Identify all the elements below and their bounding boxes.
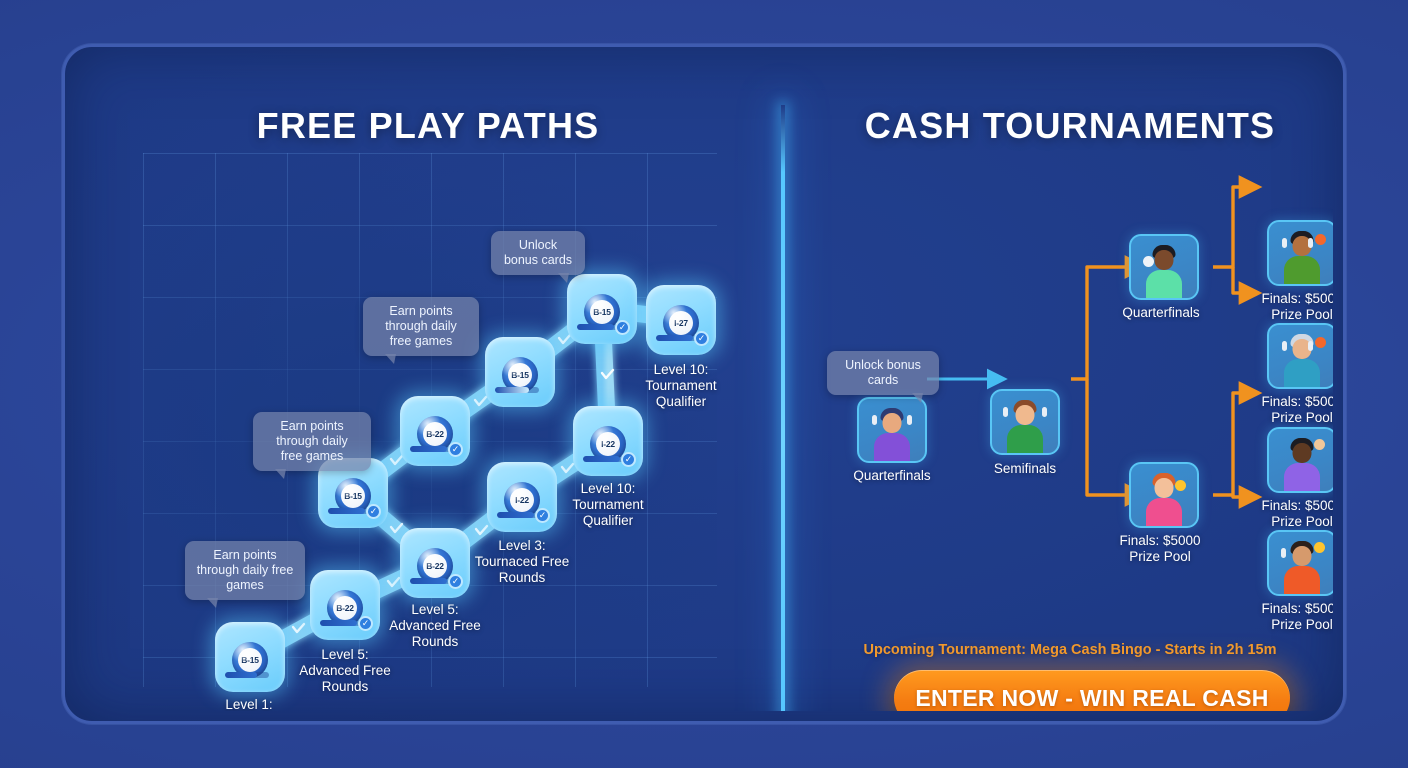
level-node-3[interactable]: B-22 ✓ — [400, 528, 470, 598]
avatar-player-violet — [1269, 429, 1333, 491]
bracket-card-quarterfinals-1[interactable] — [857, 397, 927, 463]
bracket-card-finals-mid[interactable] — [1129, 462, 1199, 528]
content-card: FREE PLAY PATHS — [62, 44, 1346, 724]
level-node-9[interactable]: B-15 ✓ — [567, 274, 637, 344]
tooltip-unlock-bonus-cards-cash: Unlock bonus cards — [827, 351, 939, 395]
level-node-2-label: Level 5:Advanced Free Rounds — [285, 647, 405, 695]
bracket-card-quarterfinals-2[interactable] — [1129, 234, 1199, 300]
tooltip-unlock-bonus-cards: Unlock bonus cards — [491, 231, 585, 275]
bracket-card-finals-3[interactable] — [1267, 427, 1333, 493]
level-node-7[interactable]: B-15 — [485, 337, 555, 407]
panel-divider — [781, 105, 785, 711]
screenshot-root: FREE PLAY PATHS — [0, 0, 1408, 768]
bracket-label-semifinals: Semifinals — [950, 461, 1100, 477]
bracket-card-semifinals[interactable] — [990, 389, 1060, 455]
bracket-label-finals-1: Finals: $5000Prize Pool — [1227, 291, 1333, 323]
ball-code: B-22 — [333, 596, 357, 620]
bracket-label-finals-2: Finals: $5000Prize Pool — [1227, 394, 1333, 426]
ball-code: I-22 — [596, 432, 620, 456]
check-badge: ✓ — [694, 331, 709, 346]
tooltip-earn-points-mid: Earn points through daily free games — [253, 412, 371, 471]
bracket-label-finals-4: Finals: $5000Prize Pool — [1227, 601, 1333, 633]
avatar-player-pink — [1131, 464, 1197, 526]
level-node-10[interactable]: I-27 ✓ — [646, 285, 716, 355]
level-node-8[interactable]: I-22 ✓ — [573, 406, 643, 476]
ball-code: B-15 — [590, 300, 614, 324]
avatar-player-orange — [1269, 532, 1333, 594]
ball-code: I-27 — [669, 311, 693, 335]
level-node-1-label: Level 1:Beginner Bingo — [189, 697, 309, 711]
cash-tournaments-panel: CASH TOURNAMENTS — [781, 57, 1333, 711]
tooltip-earn-points-top: Earn points through daily free games — [363, 297, 479, 356]
ball-code: B-22 — [423, 422, 447, 446]
ball-code: B-15 — [508, 363, 532, 387]
level-node-6-label: Level 3:Tournaced Free Rounds — [462, 538, 582, 586]
level-node-2[interactable]: B-22 ✓ — [310, 570, 380, 640]
ball-code: B-15 — [238, 648, 262, 672]
ball-code: I-22 — [510, 488, 534, 512]
bracket-label-finals-mid: Finals: $5000Prize Pool — [1085, 533, 1235, 565]
bracket-card-finals-4[interactable] — [1267, 530, 1333, 596]
progress-bar — [225, 672, 269, 678]
enter-now-button[interactable]: ENTER NOW - WIN REAL CASH — [894, 670, 1290, 711]
avatar-player-green — [992, 391, 1058, 453]
avatar-player-mint — [1131, 236, 1197, 298]
avatar-player-olive — [1269, 222, 1333, 284]
ball-code: B-22 — [423, 554, 447, 578]
level-node-3-label: Level 5:Advanced Free Rounds — [375, 602, 495, 650]
check-badge: ✓ — [358, 616, 373, 631]
avatar-player-purple — [859, 399, 925, 461]
check-badge: ✓ — [366, 504, 381, 519]
tooltip-earn-points-bottom: Earn points through daily free games — [185, 541, 305, 600]
check-badge: ✓ — [448, 442, 463, 457]
level-node-10-label: Level 10:Tournament Qualifier — [621, 362, 741, 410]
level-node-5[interactable]: B-22 ✓ — [400, 396, 470, 466]
bracket-label-quarterfinals-1: Quarterfinals — [817, 468, 967, 484]
check-badge: ✓ — [615, 320, 630, 335]
bracket-label-finals-3: Finals: $5000Prize Pool — [1227, 498, 1333, 530]
level-node-6[interactable]: I-22 ✓ — [487, 462, 557, 532]
ball-code: B-15 — [341, 484, 365, 508]
bracket-label-quarterfinals-2: Quarterfinals — [1086, 305, 1236, 321]
check-badge: ✓ — [621, 452, 636, 467]
level-node-8-label: Level 10:Tournament Qualifier — [548, 481, 668, 529]
level-node-1[interactable]: B-15 — [215, 622, 285, 692]
avatar-player-teal — [1269, 325, 1333, 387]
progress-bar — [495, 387, 539, 393]
check-badge: ✓ — [448, 574, 463, 589]
bracket-card-finals-2[interactable] — [1267, 323, 1333, 389]
bracket-card-finals-1[interactable] — [1267, 220, 1333, 286]
free-play-panel: FREE PLAY PATHS — [75, 57, 781, 711]
upcoming-tournament-text: Upcoming Tournament: Mega Cash Bingo - S… — [781, 642, 1333, 658]
